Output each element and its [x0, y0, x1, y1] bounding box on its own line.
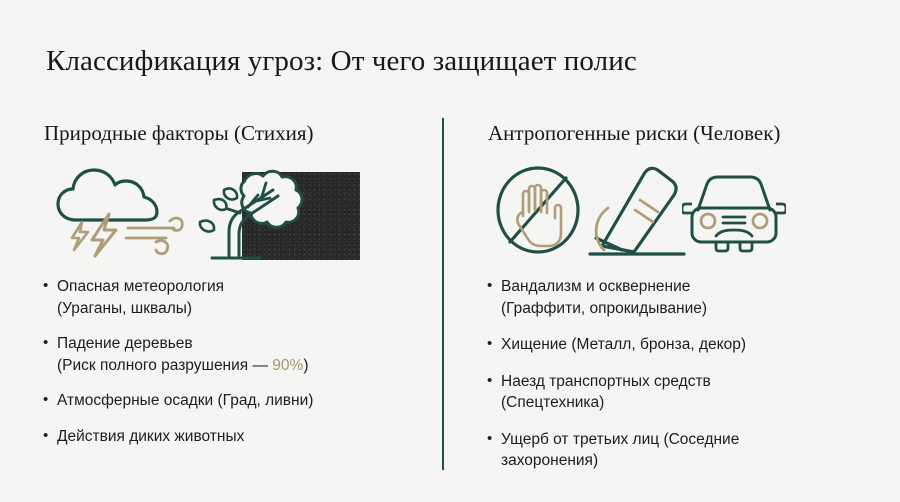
bullet-list-natural: Опасная метеорология (Ураганы, шквалы) П…: [42, 276, 422, 447]
bullet-line-2-suffix: ): [303, 357, 308, 374]
column-heading-anthropogenic: Антропогенные риски (Человек): [488, 110, 876, 146]
bullet-line-1: Хищение (Металл, бронза, декор): [501, 336, 746, 353]
list-item: Ущерб от третьих лиц (Соседние захоронен…: [486, 429, 876, 472]
column-anthropogenic-risks: Антропогенные риски (Человек): [486, 110, 876, 480]
list-item: Падение деревьев (Риск полного разрушени…: [42, 333, 422, 376]
icon-row-anthropogenic: [486, 156, 876, 260]
car-front-icon: [682, 170, 786, 254]
page-title: Классификация угроз: От чего защищает по…: [46, 43, 637, 79]
list-item: Хищение (Металл, бронза, декор): [486, 334, 876, 356]
bullet-line-1: Ущерб от третьих лиц (Соседние: [501, 431, 739, 448]
bullet-list-anthropogenic: Вандализм и осквернение (Граффити, опрок…: [486, 276, 876, 472]
bullet-line-1: Падение деревьев: [57, 335, 193, 352]
columns-container: Природные факторы (Стихия): [0, 110, 900, 480]
bullet-line-1: Атмосферные осадки (Град, ливни): [57, 392, 313, 409]
bullet-line-1: Действия диких животных: [57, 428, 244, 445]
column-divider: [442, 118, 444, 470]
bullet-line-2: (Граффити, опрокидывание): [501, 298, 876, 320]
bullet-line-2-prefix: (Риск полного разрушения —: [57, 357, 272, 374]
list-item: Вандализм и осквернение (Граффити, опрок…: [486, 276, 876, 319]
storm-cloud-lightning-wind-icon: [46, 158, 188, 258]
bullet-line-2: (Ураганы, шквалы): [57, 298, 422, 320]
falling-tree-icon: [182, 160, 312, 260]
icon-row-natural: [42, 156, 422, 260]
bullet-line-1: Опасная метеорология: [57, 278, 224, 295]
column-natural-factors: Природные факторы (Стихия): [42, 110, 422, 480]
bullet-line-2: (Риск полного разрушения — 90%): [57, 355, 422, 377]
toppling-tombstone-icon: [586, 158, 692, 258]
risk-percentage-highlight: 90%: [272, 357, 303, 374]
bullet-line-2: (Спецтехника): [501, 392, 876, 414]
bullet-line-1: Вандализм и осквернение: [501, 278, 690, 295]
bullet-line-2: захоронения): [501, 450, 876, 472]
list-item: Атмосферные осадки (Град, ливни): [42, 390, 422, 412]
bullet-line-1: Наезд транспортных средств: [501, 373, 711, 390]
slide-root: Классификация угроз: От чего защищает по…: [0, 0, 900, 502]
no-hand-prohibition-icon: [492, 164, 584, 256]
list-item: Действия диких животных: [42, 426, 422, 448]
list-item: Наезд транспортных средств (Спецтехника): [486, 371, 876, 414]
column-heading-natural: Природные факторы (Стихия): [44, 110, 422, 146]
list-item: Опасная метеорология (Ураганы, шквалы): [42, 276, 422, 319]
